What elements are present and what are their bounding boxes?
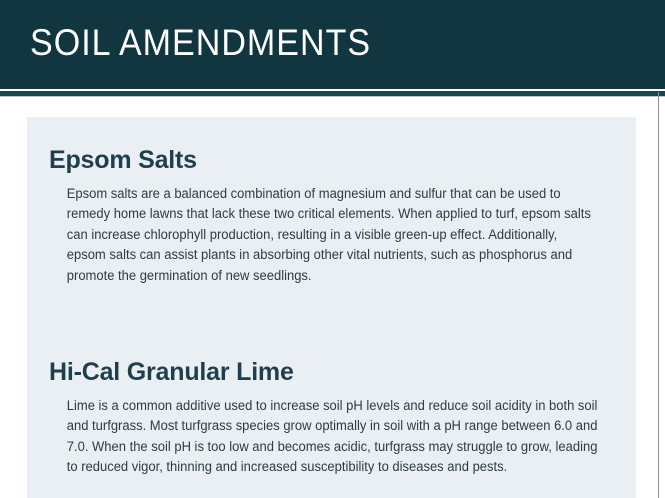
page-frame-right-rule: [658, 92, 659, 498]
section-body-hi-cal-granular-lime: Lime is a common additive used to increa…: [27, 396, 618, 478]
section-hi-cal-granular-lime: Hi-Cal Granular Lime Lime is a common ad…: [27, 357, 636, 478]
section-heading-epsom-salts: Epsom Salts: [27, 145, 636, 175]
page-title: SOIL AMENDMENTS: [30, 20, 371, 66]
section-body-epsom-salts: Epsom salts are a balanced combination o…: [27, 184, 618, 286]
content-card: Epsom Salts Epsom salts are a balanced c…: [27, 117, 636, 498]
banner-rule-shadow: [0, 96, 665, 97]
page-root: SOIL AMENDMENTS Epsom Salts Epsom salts …: [0, 0, 665, 498]
section-heading-hi-cal-granular-lime: Hi-Cal Granular Lime: [27, 357, 636, 387]
section-epsom-salts: Epsom Salts Epsom salts are a balanced c…: [27, 145, 636, 286]
page-banner: SOIL AMENDMENTS: [0, 0, 665, 89]
